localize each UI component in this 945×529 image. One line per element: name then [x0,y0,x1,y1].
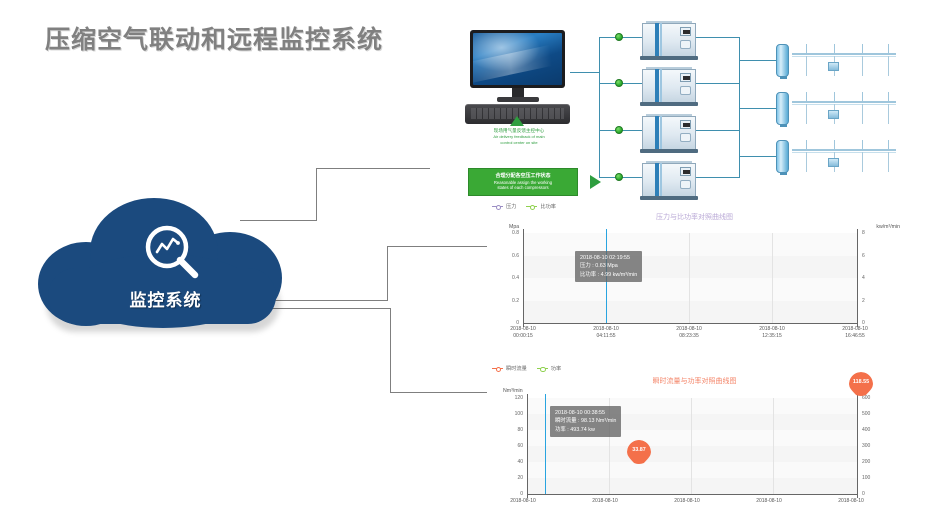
chart1-xtick: 2018-08-10 16:46:55 [825,326,885,340]
chart2-legend: 瞬时流量 功率 [492,365,561,372]
chart2-y-axis-right [857,394,858,498]
legend-item-pressure[interactable]: 压力 [492,203,516,210]
chart1-xtick-time: 08:23:35 [659,333,719,340]
legend-marker-flow [492,366,503,371]
monitoring-cloud[interactable]: 监控系统 [38,198,293,333]
chart2-ytick-right: 200 [862,459,870,465]
chart2-band-6 [527,478,857,494]
chart1-xtick-time: 04:11:55 [576,333,636,340]
center-caption-en-2: control center on site [458,140,580,145]
legend-marker-specific-power [526,204,537,209]
air-consumer-icon [828,158,839,167]
air-consumer-icon [828,62,839,71]
chart2-marker-max[interactable]: 118.55 [849,372,873,396]
connector-cloud-to-chart1 [270,246,490,302]
chart1-xtick-date: 2018-08-10 [659,326,719,333]
chart2-xtick-date: 2018-08-10 [657,498,717,505]
chart2-ytick-right: 100 [862,475,870,481]
legend-item-specific-power[interactable]: 比功率 [526,203,556,210]
pin-label: 118.55 [849,379,873,385]
chart1-tooltip-line1: 压力 : 0.63 Mpa [580,262,637,270]
chart2-cursor-line[interactable] [545,394,546,494]
chart1-xtick-date: 2018-08-10 [825,326,885,333]
pipe-out-3 [739,156,777,157]
chart2-ytick-right: 400 [862,427,870,433]
legend-marker-pressure [492,204,503,209]
chart1-gridline [689,233,690,323]
air-tank-line-1 [776,42,898,82]
pipe-out-1 [739,60,777,61]
pipe-collect-4 [696,177,740,178]
chart1-xtick-date: 2018-08-10 [493,326,553,333]
chart1-title: 压力与比功率对照曲线图 [487,212,902,222]
chart2-gridline [691,398,692,494]
chart2-ytick: 120 [501,395,523,401]
chart2-xtick: 2018-08-10 [657,498,717,505]
chart2-tooltip-line2: 功率 : 493.74 kw [555,426,616,434]
pipe-monitor-trunk [570,72,600,73]
chart1-tooltip-time: 2018-08-10 02:19:55 [580,254,637,262]
chart2-ylabel-left: Nm³/min [503,388,523,394]
chart1-ytick-right: 8 [862,230,865,236]
chart2-ytick-right: 500 [862,411,870,417]
monitor-bezel [470,30,565,88]
chart1-band-2 [523,256,857,279]
chart2-xtick-date: 2018-08-10 [575,498,635,505]
legend-item-flow[interactable]: 瞬时流量 [492,365,527,372]
chart-pressure-vs-specific-power: 压力 比功率 压力与比功率对照曲线图 Mpa kw/m³/min [487,200,902,335]
chart2-ytick: 20 [501,475,523,481]
chart1-xtick-time: 16:46:55 [825,333,885,340]
chart1-ytick-right: 2 [862,298,865,304]
system-topology-diagram: 现场用气量反馈主控中心 Air delivery feedback of mai… [430,20,935,200]
chart1-y-axis [523,229,524,327]
chart1-band-4 [523,301,857,324]
green-box-en-2: states of each compressors [497,185,548,190]
pipe-collect-1 [696,37,740,38]
page-title: 压缩空气联动和远程监控系统 [45,20,383,56]
monitor-base [497,97,539,102]
chart2-band-5 [527,462,857,478]
compressor-4 [642,163,696,197]
chart2-y-axis [527,394,528,498]
chart1-xtick: 2018-08-10 00:00:15 [493,326,553,340]
chart2-ytick-right: 300 [862,443,870,449]
pin-label: 33.87 [627,447,651,453]
status-node-2 [615,79,623,87]
air-tank-line-2 [776,90,898,130]
chart2-ytick-right: 0 [862,491,865,497]
chart2-tooltip-time: 2018-08-10 00:38:55 [555,409,616,417]
pipe-collect-3 [696,130,740,131]
chart1-y-axis-right [857,229,858,327]
chart1-ytick: 0.8 [499,230,519,236]
chart1-ytick-right: 4 [862,275,865,281]
compressor-3 [642,116,696,150]
desktop-monitor-icon [465,30,570,130]
chart2-xtick: 2018-08-10 [493,498,553,505]
chart2-ytick: 40 [501,459,523,465]
air-tank-line-3 [776,138,898,178]
chart2-title: 瞬时流量与功率对照曲线图 [487,376,902,386]
pipe-collect-2 [696,83,740,84]
chart1-xtick-time: 12:35:15 [742,333,802,340]
chart2-ytick: 100 [501,411,523,417]
legend-item-power[interactable]: 功率 [537,365,561,372]
green-info-box: 合理分配各空压工作状态 Reasonable assign the workin… [468,168,578,196]
chart1-xtick-date: 2018-08-10 [742,326,802,333]
chart1-legend: 压力 比功率 [492,203,556,210]
chart1-ylabel-right: kw/m³/min [876,224,900,230]
chart2-tooltip: 2018-08-10 00:38:55 瞬时流量 : 98.13 Nm³/min… [550,406,621,437]
chart1-x-axis [523,323,858,324]
chart2-x-axis [527,494,858,495]
cloud-label: 监控系统 [38,286,293,311]
pipe-out-2 [739,108,777,109]
chart1-tooltip-line2: 比功率 : 4.99 kw/m³/min [580,271,637,279]
chart1-plot-area [523,233,857,323]
chart1-tooltip: 2018-08-10 02:19:55 压力 : 0.63 Mpa 比功率 : … [575,251,642,282]
chart2-xtick: 2018-08-10 [739,498,799,505]
air-tank-icon [776,140,789,173]
chart2-marker-min[interactable]: 33.87 [627,440,651,464]
chart1-ytick: 0.4 [499,275,519,281]
center-caption: 现场用气量反馈主控中心 Air delivery feedback of mai… [458,128,580,145]
monitor-screen [473,33,562,85]
chart2-ytick: 60 [501,443,523,449]
chart2-xtick: 2018-08-10 [821,498,881,505]
chart1-band-3 [523,278,857,301]
air-tank-icon [776,92,789,125]
chart1-xtick: 2018-08-10 12:35:15 [742,326,802,340]
chart2-band-4 [527,446,857,462]
chart2-ytick: 80 [501,427,523,433]
status-node-1 [615,33,623,41]
legend-marker-power [537,366,548,371]
chart-flow-vs-power: 瞬时流量 功率 瞬时流量与功率对照曲线图 Nm³/min [487,362,902,527]
chart1-band-1 [523,233,857,256]
chart1-gridline [772,233,773,323]
air-consumer-icon [828,110,839,119]
chart2-xtick: 2018-08-10 [575,498,635,505]
chart2-xtick-date: 2018-08-10 [739,498,799,505]
magnifier-chart-icon [142,222,204,284]
chart2-gridline [773,398,774,494]
chart2-ytick: 0 [501,491,523,497]
connector-cloud-to-chart2 [258,308,494,394]
status-node-4 [615,173,623,181]
chart1-xtick: 2018-08-10 08:23:35 [659,326,719,340]
chart1-ytick: 0.6 [499,253,519,259]
slide-canvas: 压缩空气联动和远程监控系统 监控系统 [0,0,945,529]
chart1-xtick-time: 00:00:15 [493,333,553,340]
pipe-left-bus [599,37,600,177]
compressor-1 [642,23,696,57]
air-tank-icon [776,44,789,77]
chart2-xtick-date: 2018-08-10 [493,498,553,505]
chart2-tooltip-line1: 瞬时流量 : 98.13 Nm³/min [555,417,616,425]
chart1-xtick: 2018-08-10 04:11:55 [576,326,636,340]
chart1-ytick: 0.2 [499,298,519,304]
compressor-2 [642,69,696,103]
chart1-xtick-date: 2018-08-10 [576,326,636,333]
chart2-xtick-date: 2018-08-10 [821,498,881,505]
arrow-up-icon [510,116,524,126]
status-node-3 [615,126,623,134]
chart1-ytick-right: 6 [862,253,865,259]
